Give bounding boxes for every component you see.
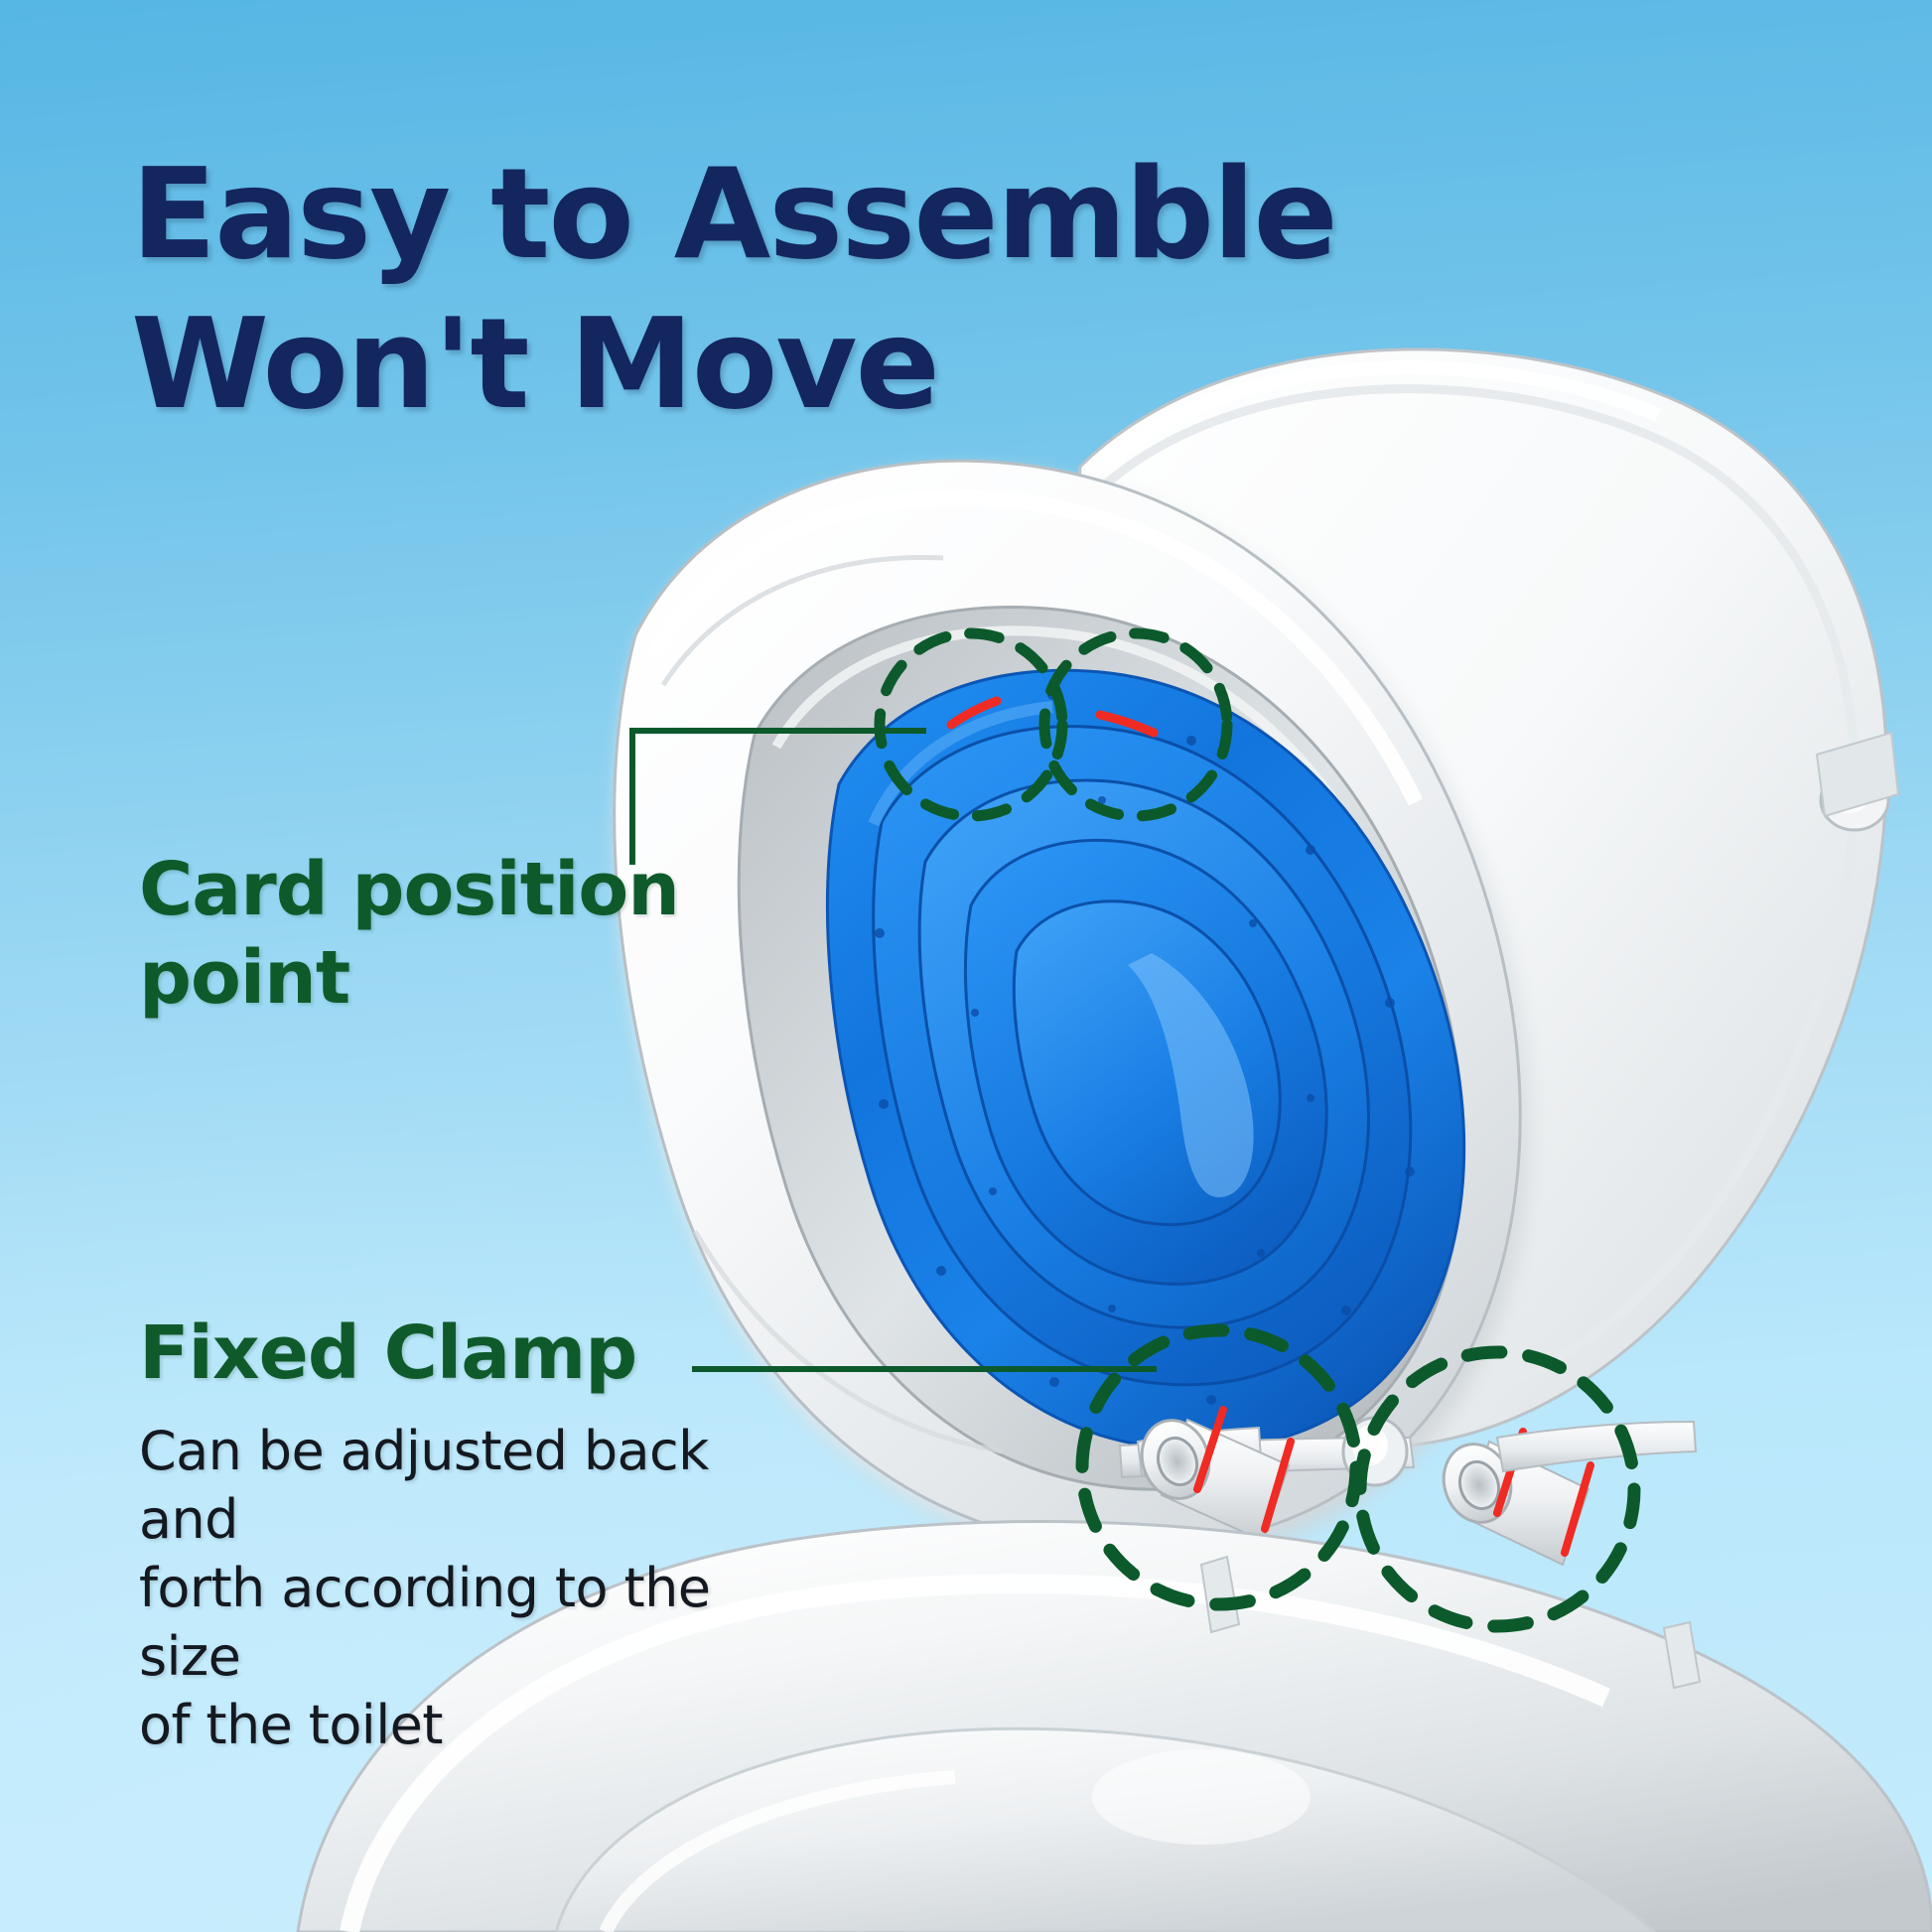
- dashed-circle-card-position-right: [1044, 633, 1227, 816]
- infographic-canvas: Easy to Assemble Won't Move Card positio…: [0, 0, 1932, 1932]
- leader-line-card-position: [632, 731, 923, 862]
- dashed-circle-card-position-left: [880, 633, 1062, 816]
- annotation-overlay: [0, 0, 1932, 1932]
- dashed-circle-fixed-clamp-right: [1360, 1352, 1634, 1626]
